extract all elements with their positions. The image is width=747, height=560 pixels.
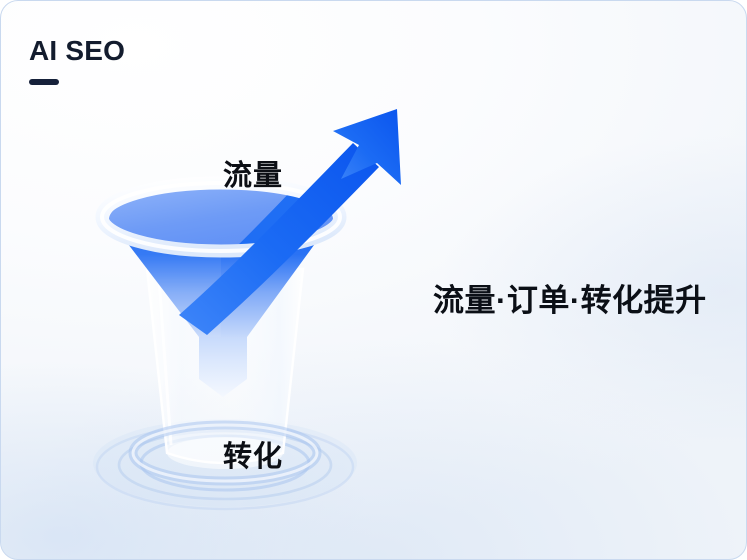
label-conversion: 转化 bbox=[223, 433, 283, 475]
page-title: AI SEO bbox=[29, 37, 125, 65]
slide-canvas: AI SEO 流量·订单·转化提升 bbox=[0, 0, 747, 560]
label-traffic: 流量 bbox=[223, 152, 283, 194]
title-underline-rule bbox=[29, 79, 59, 85]
headline-text: 流量·订单·转化提升 bbox=[433, 275, 707, 320]
title-block: AI SEO bbox=[29, 37, 125, 85]
